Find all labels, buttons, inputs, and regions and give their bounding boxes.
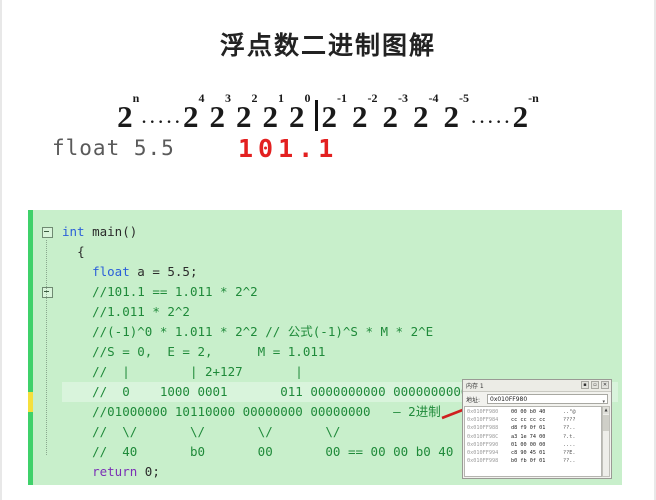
close-icon[interactable]: ✕ [601, 381, 609, 389]
code-line[interactable]: int main() [62, 222, 618, 242]
power-term-p2: 22 [236, 101, 258, 132]
page-edge-left [0, 0, 2, 500]
memory-address-cell: 0x010FF994 [467, 449, 511, 457]
change-indicator-bar [28, 210, 33, 485]
memory-hex-cell: a3 1e 74 00 [511, 433, 563, 441]
exponent-1: 1 [278, 91, 284, 105]
float-binary-value: 101.1 [238, 134, 338, 163]
memory-address-input[interactable]: 0x010FF980 ▾ [487, 394, 608, 404]
code-token: float [92, 264, 137, 279]
memory-row[interactable]: 0x010FF98000 00 b0 40..°@ [467, 408, 599, 416]
code-token: //101.1 == 1.011 * 2^2 [92, 284, 258, 299]
exponent-n: n [133, 91, 140, 105]
power-term-m5: 2-5 [444, 101, 470, 132]
code-line[interactable]: //(-1)^0 * 1.011 * 2^2 // 公式(-1)^S * M *… [62, 322, 618, 342]
ellipsis-right: ····· [469, 109, 513, 135]
memory-row[interactable]: 0x010FF988d8 f9 0f 01??.. [467, 424, 599, 432]
code-token: // \/ \/ \/ \/ [92, 424, 340, 439]
code-token: // 40 b0 00 00 == 00 00 b0 40 — 16进制 [92, 444, 523, 459]
change-indicator-mark [28, 392, 33, 412]
memory-address-label: 地址: [466, 395, 480, 404]
code-token: a = 5.5; [137, 264, 197, 279]
memory-hex-cell: b0 fb 0f 01 [511, 457, 563, 465]
maximize-icon[interactable]: ▫ [591, 381, 599, 389]
code-line[interactable]: { [62, 242, 618, 262]
memory-hex-cell: cc cc cc cc [511, 416, 563, 424]
code-token: //1.011 * 2^2 [92, 304, 190, 319]
fold-gutter[interactable] [40, 210, 56, 485]
power-term-m1: 2-1 [322, 101, 348, 132]
exponent-0: 0 [305, 91, 311, 105]
memory-window-titlebar[interactable]: 内存 1 ▪ ▫ ✕ [463, 380, 611, 392]
code-line[interactable]: //S = 0, E = 2, M = 1.011 [62, 342, 618, 362]
exponent-2: 2 [252, 91, 258, 105]
exponent-minus-3: -3 [398, 91, 408, 105]
code-token: { [77, 244, 85, 259]
code-token: // 0 1000 0001 011 0000000000 0000000000 [92, 384, 468, 399]
power-term-p4: 24 [183, 101, 205, 132]
memory-address-cell: 0x010FF990 [467, 441, 511, 449]
memory-address-cell: 0x010FF998 [467, 457, 511, 465]
exponent-minus-1: -1 [337, 91, 347, 105]
exponent-3: 3 [225, 91, 231, 105]
fold-collapse-icon[interactable] [42, 227, 53, 238]
memory-row[interactable]: 0x010FF98Ca3 1e 74 00?.t. [467, 433, 599, 441]
power-term-p3: 23 [210, 101, 232, 132]
code-line[interactable]: //1.011 * 2^2 [62, 302, 618, 322]
power-term-m4: 2-4 [413, 101, 439, 132]
chevron-down-icon[interactable]: ▾ [602, 398, 605, 406]
memory-row[interactable]: 0x010FF99001 00 00 00.... [467, 441, 599, 449]
powers-of-two-ruler: 2n·····24232221202-12-22-32-42-5·····2-n [0, 100, 656, 135]
memory-address-cell: 0x010FF980 [467, 408, 511, 416]
code-token: } [77, 484, 85, 485]
fold-guide-line [46, 240, 48, 455]
memory-ascii-cell: ??E. [563, 449, 576, 457]
memory-window-controls[interactable]: ▪ ▫ ✕ [581, 381, 609, 389]
power-term-m2: 2-2 [352, 101, 378, 132]
float-example-row: float 5.5 101.1 [0, 136, 656, 166]
power-term-p1: 21 [263, 101, 285, 132]
code-line[interactable]: //101.1 == 1.011 * 2^2 [62, 282, 618, 302]
memory-hex-list[interactable]: 0x010FF98000 00 b0 40..°@0x010FF984cc cc… [464, 406, 602, 477]
memory-ascii-cell: ??.. [563, 457, 576, 465]
page-title: 浮点数二进制图解 [0, 26, 656, 62]
memory-ascii-cell: ?.t. [563, 433, 576, 441]
memory-hex-cell: 00 00 b0 40 [511, 408, 563, 416]
memory-row[interactable]: 0x010FF998b0 fb 0f 01??.. [467, 457, 599, 465]
code-token: main() [92, 224, 137, 239]
exponent-minus-2: -2 [368, 91, 378, 105]
memory-address-cell: 0x010FF98C [467, 433, 511, 441]
memory-debug-window[interactable]: 内存 1 ▪ ▫ ✕ 地址: 0x010FF980 ▾ 0x010FF98000… [462, 379, 612, 479]
code-token: //S = 0, E = 2, M = 1.011 [92, 344, 325, 359]
radix-point-separator [315, 100, 318, 131]
memory-row[interactable]: 0x010FF994c8 90 45 01??E. [467, 449, 599, 457]
exponent-4: 4 [199, 91, 205, 105]
code-line[interactable]: } [62, 482, 618, 485]
memory-address-bar[interactable]: 地址: 0x010FF980 ▾ [463, 393, 611, 405]
code-token: int [62, 224, 92, 239]
code-token: return [92, 464, 145, 479]
float-label: float 5.5 [52, 136, 175, 160]
exponent-minus-n: -n [528, 91, 539, 105]
exponent-minus-4: -4 [429, 91, 439, 105]
code-token: //(-1)^0 * 1.011 * 2^2 // 公式(-1)^S * M *… [92, 324, 433, 339]
power-term-m3: 2-3 [383, 101, 409, 132]
memory-address-cell: 0x010FF984 [467, 416, 511, 424]
code-token: //01000000 10110000 00000000 00000000 — … [92, 404, 441, 419]
ellipsis-left: ····· [139, 109, 183, 135]
memory-window-title: 内存 1 [466, 381, 484, 390]
memory-ascii-cell: ??.. [563, 424, 576, 432]
power-term-left: 2n [117, 101, 139, 132]
memory-scrollbar[interactable]: ▲ [602, 406, 610, 477]
memory-hex-cell: d8 f9 0f 01 [511, 424, 563, 432]
code-line[interactable]: float a = 5.5; [62, 262, 618, 282]
code-token: 0; [145, 464, 160, 479]
power-term-p0: 20 [289, 101, 311, 132]
memory-ascii-cell: ???? [563, 416, 576, 424]
memory-address-value: 0x010FF980 [490, 396, 527, 403]
code-token: // | | 2+127 | [92, 364, 303, 379]
memory-address-cell: 0x010FF988 [467, 424, 511, 432]
memory-ascii-cell: ..°@ [563, 408, 576, 416]
memory-row[interactable]: 0x010FF984cc cc cc cc???? [467, 416, 599, 424]
scrollbar-thumb[interactable] [603, 415, 609, 431]
memory-ascii-cell: .... [563, 441, 576, 449]
exponent-minus-5: -5 [459, 91, 469, 105]
pin-icon[interactable]: ▪ [581, 381, 589, 389]
power-term-right: 2-n [513, 101, 539, 132]
memory-hex-cell: c8 90 45 01 [511, 449, 563, 457]
scroll-up-icon[interactable]: ▲ [603, 407, 609, 414]
memory-hex-cell: 01 00 00 00 [511, 441, 563, 449]
